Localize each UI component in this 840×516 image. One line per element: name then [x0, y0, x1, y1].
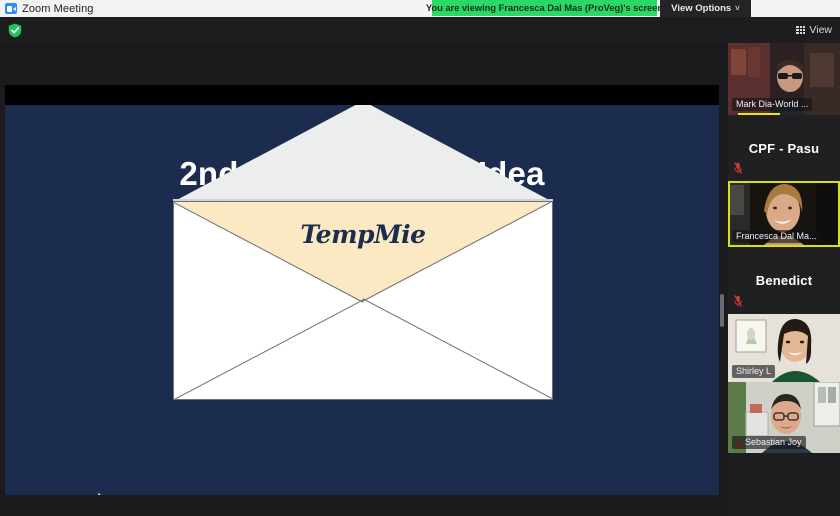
presentation-slide: 2nd Prize Winning Idea TempMie	[5, 105, 719, 495]
participant-placeholder: CPF - Pasu	[728, 115, 840, 181]
meeting-top-bar	[0, 17, 840, 43]
participant-name: Francesca Dal Ma...	[732, 230, 821, 243]
envelope-flap	[173, 105, 553, 202]
participant-tile-sebastian[interactable]: Sebastian Joy	[728, 382, 840, 453]
window-title: Zoom Meeting	[22, 3, 94, 15]
participant-placeholder: Benedict	[728, 247, 840, 314]
envelope-body: TempMie	[173, 201, 553, 400]
grid-icon	[796, 26, 805, 35]
participant-name: Mark Dia-World ...	[732, 98, 812, 111]
shared-screen-area[interactable]: 2nd Prize Winning Idea TempMie	[5, 85, 719, 495]
participant-tile-benedict[interactable]: Benedict	[728, 247, 840, 314]
participant-tile-mark[interactable]: Mark Dia-World ...	[728, 43, 840, 115]
view-options-label: View Options	[671, 3, 731, 14]
encryption-shield-icon[interactable]	[8, 23, 22, 38]
view-options-button[interactable]: View Options ˅	[660, 0, 751, 17]
participant-tile-shirley[interactable]: Shirley L	[728, 314, 840, 382]
participant-tile-cpf-pasu[interactable]: CPF - Pasu	[728, 115, 840, 181]
participant-name: Benedict	[756, 273, 813, 288]
mic-muted-icon	[734, 294, 742, 306]
tempmie-logo-text: TempMie	[174, 220, 552, 249]
participant-name: Shirley L	[732, 365, 775, 378]
envelope-diagonal	[363, 298, 553, 399]
participant-tile-francesca[interactable]: Francesca Dal Ma...	[728, 181, 840, 247]
screen-share-banner: You are viewing Francesca Dal Mas (ProVe…	[432, 0, 657, 16]
mic-muted-icon	[734, 161, 742, 173]
participant-name: CPF - Pasu	[749, 141, 820, 156]
mouse-pointer	[98, 493, 109, 495]
envelope-inner-triangle	[174, 202, 552, 302]
envelope-graphic: TempMie	[173, 201, 553, 400]
view-layout-button[interactable]: View	[796, 22, 832, 38]
participant-filmstrip[interactable]: Mark Dia-World ... CPF - Pasu	[728, 43, 840, 516]
chevron-down-icon: ˅	[735, 5, 740, 13]
envelope-diagonal	[174, 299, 364, 400]
zoom-camera-icon	[5, 3, 17, 14]
view-layout-label: View	[809, 24, 832, 36]
zoom-meeting-window: Zoom Meeting You are viewing Francesca D…	[0, 0, 840, 516]
participant-name: Sebastian Joy	[732, 436, 806, 449]
share-scrollbar[interactable]	[720, 294, 724, 327]
